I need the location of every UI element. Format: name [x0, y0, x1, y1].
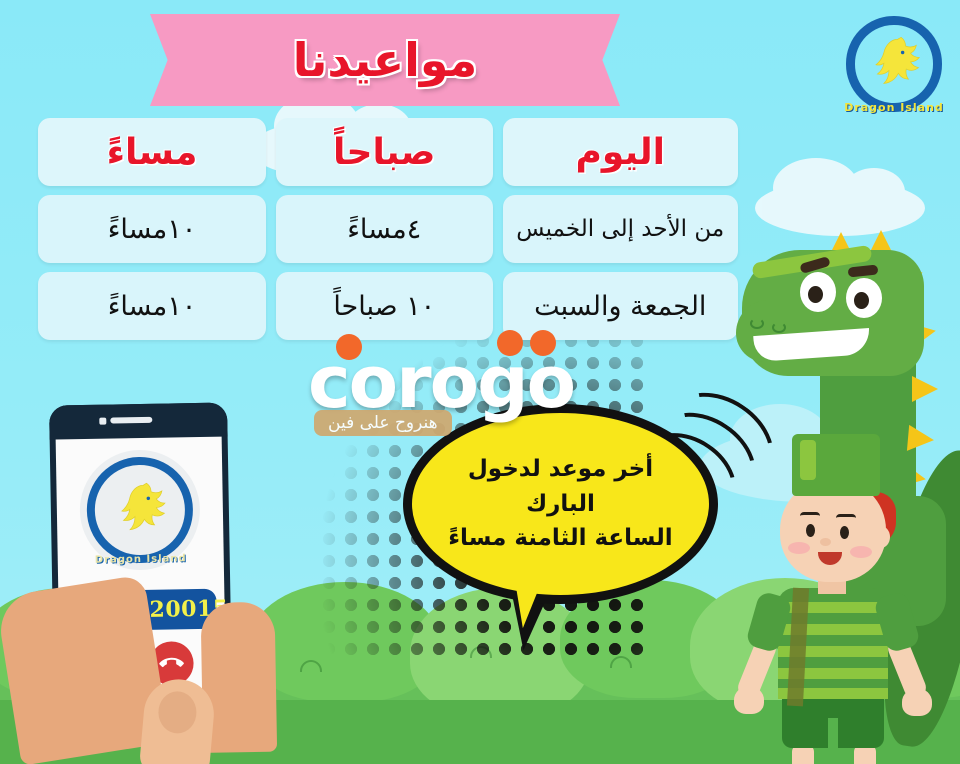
- dino-spike-icon: [912, 376, 938, 402]
- boy-character: [744, 438, 930, 764]
- row-1-day: الجمعة والسبت: [503, 272, 739, 340]
- notice-text: أخر موعد لدخول البارك الساعة الثامنة مسا…: [403, 404, 718, 604]
- row-0-morning: ٤مساءً: [276, 195, 493, 263]
- dragon-badge: Dragon Island: [79, 449, 201, 571]
- table-header-row: اليوم صباحاً مساءً: [38, 118, 738, 186]
- dino-nostril-icon: [772, 322, 786, 333]
- header-morning: صباحاً: [276, 118, 493, 186]
- row-1-morning: ١٠ صباحاً: [276, 272, 493, 340]
- notice-speech-bubble: أخر موعد لدخول البارك الساعة الثامنة مسا…: [403, 404, 718, 604]
- dragon-badge: Dragon Island: [840, 10, 948, 118]
- table-row: من الأحد إلى الخميس ٤مساءً ١٠مساءً: [38, 195, 738, 263]
- dino-pupil: [854, 292, 869, 309]
- dino-nostril-icon: [750, 318, 764, 329]
- table-row: الجمعة والسبت ١٠ صباحاً ١٠مساءً: [38, 272, 738, 340]
- poster-canvas: مواعيدنا Dragon Island اليوم صباحاً مساء…: [0, 0, 960, 764]
- title-ribbon: مواعيدنا: [150, 14, 620, 106]
- header-evening: مساءً: [38, 118, 266, 186]
- boy-eye: [806, 524, 815, 537]
- phone-illustration: Dragon Island 01200120015: [49, 402, 233, 745]
- boy-cheek: [788, 542, 810, 554]
- phone-speaker-icon: [110, 417, 152, 424]
- header-day: اليوم: [503, 118, 739, 186]
- boy-brow: [800, 512, 820, 520]
- notice-line-2: الساعة الثامنة مساءً: [448, 521, 672, 556]
- boy-cheek: [850, 546, 872, 558]
- boy-ear: [872, 526, 890, 548]
- logo-name: Dragon Island: [840, 101, 948, 114]
- boy-brow: [836, 514, 856, 522]
- boy-eye: [840, 526, 849, 539]
- boy-hat-highlight: [800, 440, 816, 480]
- dino-pupil: [808, 286, 823, 303]
- row-0-evening: ١٠مساءً: [38, 195, 266, 263]
- schedule-table: اليوم صباحاً مساءً من الأحد إلى الخميس ٤…: [38, 118, 738, 349]
- boy-nose: [820, 538, 831, 546]
- phone-logo: Dragon Island: [79, 449, 201, 571]
- brand-logo: Dragon Island: [840, 10, 948, 118]
- phone-camera-icon: [99, 418, 106, 425]
- row-1-evening: ١٠مساءً: [38, 272, 266, 340]
- boy-hand-right: [902, 688, 932, 716]
- logo-name: Dragon Island: [81, 553, 201, 566]
- boy-shorts-gap: [828, 718, 838, 750]
- row-0-day: من الأحد إلى الخميس: [503, 195, 739, 263]
- boy-hand-left: [734, 686, 764, 714]
- page-title: مواعيدنا: [150, 14, 620, 106]
- notice-line-1: أخر موعد لدخول البارك: [437, 452, 684, 521]
